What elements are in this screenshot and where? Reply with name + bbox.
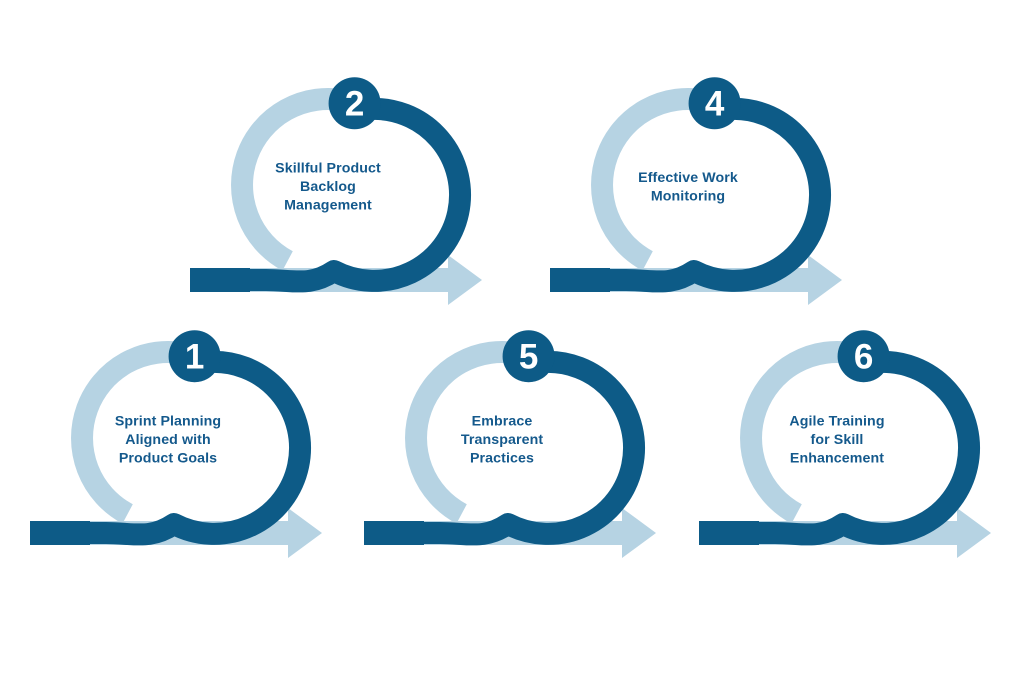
step-label-line: Practices — [470, 451, 534, 467]
bar-cap-5 — [364, 521, 424, 545]
process-step-4[interactable]: 4Effective WorkMonitoring — [550, 80, 850, 315]
step-label-line: Management — [284, 198, 372, 214]
step-label-line: Monitoring — [651, 188, 725, 204]
process-step-1[interactable]: 1Sprint PlanningAligned withProduct Goal… — [30, 333, 330, 568]
step-label-line: for Skill — [811, 432, 864, 448]
step-label-line: Effective Work — [638, 170, 738, 186]
step-label-line: Product Goals — [119, 451, 217, 467]
process-step-6[interactable]: 6Agile Trainingfor SkillEnhancement — [699, 333, 999, 568]
bar-cap-2 — [190, 268, 250, 292]
step-label-line: Enhancement — [790, 451, 884, 467]
process-step-2[interactable]: 2Skillful ProductBacklogManagement — [190, 80, 490, 315]
step-label-line: Backlog — [300, 179, 356, 195]
step-number-6: 6 — [854, 338, 873, 377]
step-number-2: 2 — [345, 85, 364, 124]
step-label-line: Sprint Planning — [115, 414, 221, 430]
step-number-4: 4 — [705, 85, 725, 124]
process-diagram: 2Skillful ProductBacklogManagement4Effec… — [0, 0, 1024, 683]
bar-cap-4 — [550, 268, 610, 292]
bar-cap-6 — [699, 521, 759, 545]
step-label-line: Skillful Product — [275, 161, 381, 177]
step-label-line: Aligned with — [125, 432, 211, 448]
step-label-line: Embrace — [472, 414, 533, 430]
process-step-5[interactable]: 5EmbraceTransparentPractices — [364, 333, 664, 568]
step-label-line: Agile Training — [789, 414, 884, 430]
step-label-line: Transparent — [461, 432, 543, 448]
step-number-5: 5 — [519, 338, 538, 377]
bar-cap-1 — [30, 521, 90, 545]
step-number-1: 1 — [185, 338, 204, 377]
